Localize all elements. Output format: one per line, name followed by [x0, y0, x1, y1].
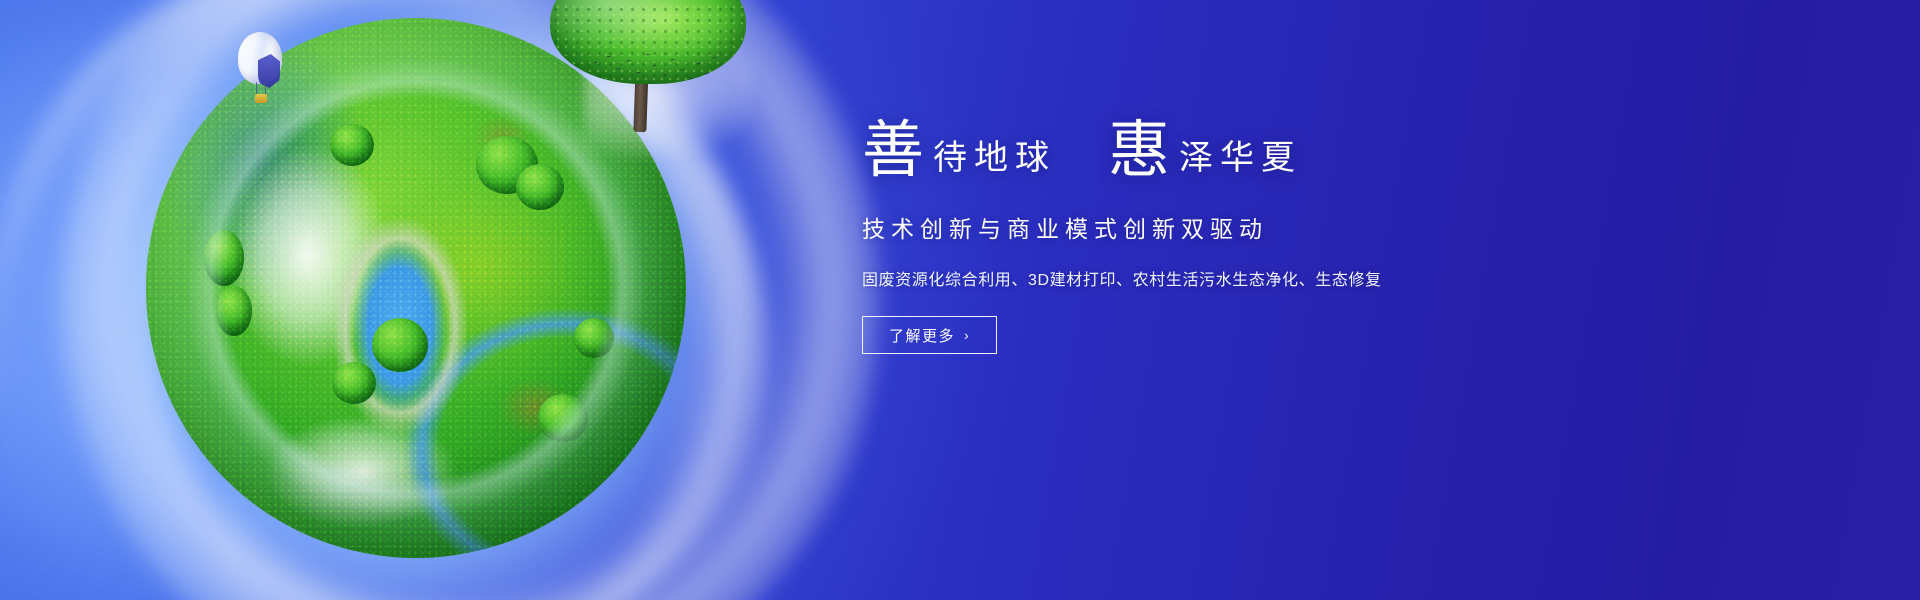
bird-flock-icon	[590, 52, 720, 92]
headline-subtitle: 技术创新与商业模式创新双驱动	[862, 210, 1482, 244]
tree-canopy-icon	[476, 136, 538, 194]
page-title: 善 待地球 惠 泽华夏	[862, 120, 1482, 182]
learn-more-label: 了解更多	[889, 325, 955, 346]
headline-part2-secondary: 泽华夏	[1179, 142, 1302, 182]
tree-canopy-icon	[372, 318, 428, 372]
tree-canopy-icon	[330, 124, 374, 166]
tree-canopy-icon	[516, 164, 564, 210]
green-planet-icon	[146, 18, 686, 558]
hero-banner: 善 待地球 惠 泽华夏 技术创新与商业模式创新双驱动 固废资源化综合利用、3D建…	[0, 0, 1920, 600]
headline-part1-secondary: 待地球	[933, 142, 1056, 182]
headline-description: 固废资源化综合利用、3D建材打印、农村生活污水生态净化、生态修复	[862, 266, 1482, 290]
tree-canopy-icon	[216, 286, 252, 336]
tree-canopy-icon	[538, 394, 588, 442]
headline-part1-primary: 善	[862, 120, 925, 182]
globe-illustration	[146, 18, 686, 558]
tree-canopy-icon	[204, 230, 244, 286]
balloon-basket	[255, 94, 267, 103]
chevron-right-icon: ›	[964, 327, 970, 343]
headline-part2-primary: 惠	[1108, 120, 1171, 182]
hero-content: 善 待地球 惠 泽华夏 技术创新与商业模式创新双驱动 固废资源化综合利用、3D建…	[862, 120, 1482, 354]
hot-air-balloon-icon	[238, 32, 282, 110]
learn-more-button[interactable]: 了解更多 ›	[862, 316, 997, 354]
tree-canopy-icon	[574, 318, 614, 358]
tree-canopy-icon	[332, 362, 376, 404]
